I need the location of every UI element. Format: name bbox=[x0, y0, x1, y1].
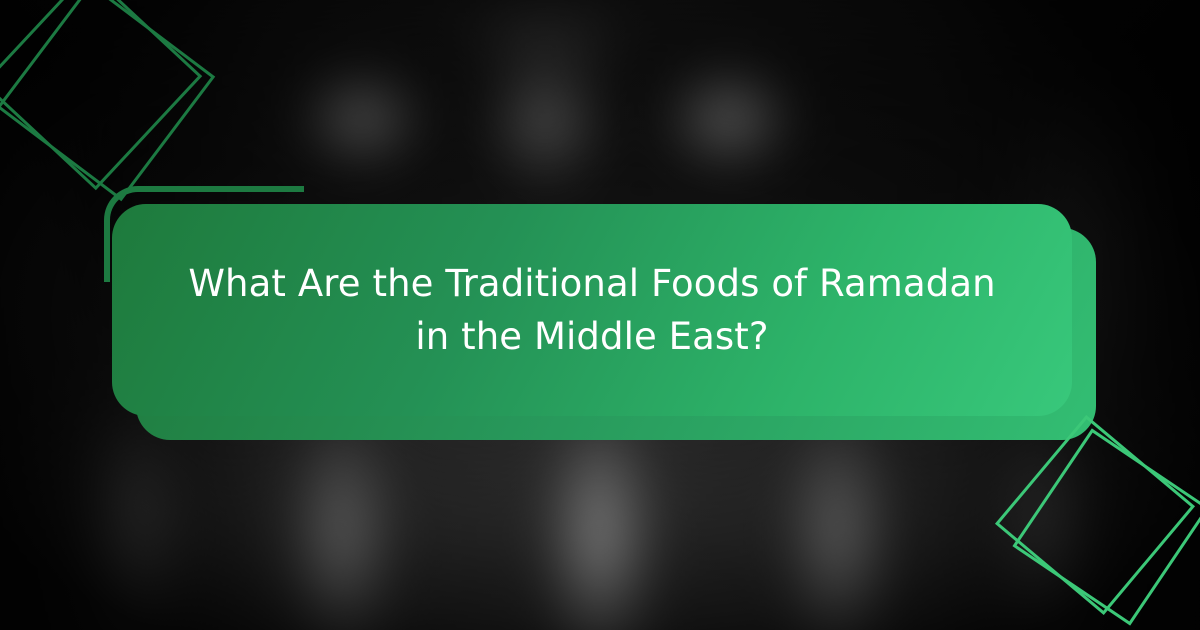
social-share-banner: What Are the Traditional Foods of Ramada… bbox=[0, 0, 1200, 630]
title-card: What Are the Traditional Foods of Ramada… bbox=[112, 204, 1072, 416]
page-title: What Are the Traditional Foods of Ramada… bbox=[177, 257, 1007, 364]
